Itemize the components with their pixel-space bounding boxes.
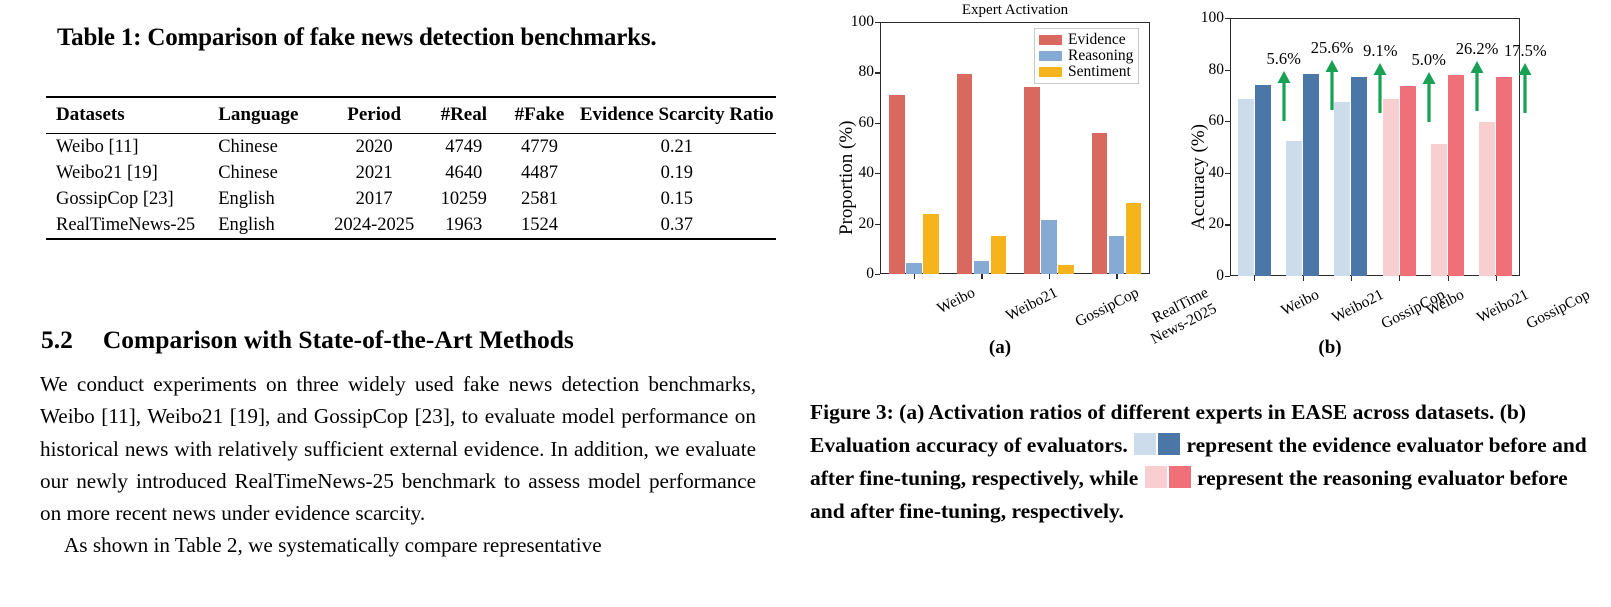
chart-b-y-tick-mark — [1225, 276, 1230, 277]
cell-real: 4749 — [426, 134, 501, 161]
table-row: RealTimeNews-25 English 2024-2025 1963 1… — [46, 212, 776, 239]
column-header-period: Period — [322, 97, 426, 134]
chart-a-x-tick-label: Weibo21 — [1003, 284, 1061, 325]
column-header-fake: #Fake — [501, 97, 577, 134]
up-arrow-icon — [1517, 63, 1533, 113]
chart-b-x-tick-mark — [1496, 276, 1497, 281]
chart-a-x-tick-label: GossipCop — [1072, 284, 1142, 331]
legend-swatch-sentiment — [1039, 67, 1062, 77]
column-header-language: Language — [218, 97, 322, 134]
table-row: GossipCop [23] English 2017 10259 2581 0… — [46, 186, 776, 212]
chart-a-x-tick-mark — [914, 274, 915, 279]
chart-a-y-tick-mark — [875, 224, 880, 225]
chart-b-x-tick-label: Weibo21 — [1474, 286, 1532, 327]
section-number: 5.2 — [41, 325, 73, 354]
chart-b-bar — [1255, 85, 1271, 276]
chart-a-y-tick-label: 100 — [842, 13, 874, 31]
chart-expert-activation: Expert Activation Proportion (%) 0204060… — [822, 0, 1182, 330]
chart-b-x-tick-label: GossipCop — [1523, 286, 1593, 333]
chart-a-title: Expert Activation — [880, 2, 1150, 19]
chart-b-bar — [1286, 141, 1302, 276]
chart-a-bar — [1126, 203, 1142, 274]
chart-b-bar — [1238, 99, 1254, 276]
chart-b-y-tick-mark — [1225, 121, 1230, 122]
chart-a-y-tick-mark — [875, 173, 880, 174]
legend-swatch-evidence — [1039, 35, 1062, 45]
legend-swatch-reasoning — [1039, 51, 1062, 61]
chart-b-bar — [1400, 86, 1416, 276]
chart-b-delta-label: 9.1% — [1363, 41, 1397, 61]
chart-b-bar — [1303, 74, 1319, 276]
table-row: Weibo21 [19] Chinese 2021 4640 4487 0.19 — [46, 160, 776, 186]
cell-fake: 4487 — [501, 160, 577, 186]
chart-a-bar — [923, 214, 939, 274]
cell-period: 2024-2025 — [322, 212, 426, 239]
column-header-datasets: Datasets — [46, 97, 218, 134]
caption-swatch-pink-after — [1169, 466, 1191, 488]
chart-a-x-tick-mark — [1116, 274, 1117, 279]
chart-a-bar — [906, 263, 922, 274]
chart-b-y-tick-label: 100 — [1192, 9, 1224, 27]
chart-b-delta-label: 25.6% — [1311, 38, 1354, 58]
right-figure-column: Expert Activation Proportion (%) 0204060… — [800, 0, 1611, 607]
chart-b-bar — [1448, 75, 1464, 276]
chart-a-bar — [1092, 133, 1108, 274]
caption-swatch-pink-before — [1145, 466, 1167, 488]
cell-language: English — [218, 212, 322, 239]
caption-swatch-blue-after — [1158, 433, 1180, 455]
chart-b-bar — [1496, 77, 1512, 276]
left-text-column: Table 1: Comparison of fake news detecti… — [0, 0, 800, 607]
cell-fake: 4779 — [501, 134, 577, 161]
chart-b-y-tick-mark — [1225, 173, 1230, 174]
chart-b-x-tick-mark — [1351, 276, 1352, 281]
figure-caption: Figure 3: (a) Activation ratios of diffe… — [810, 396, 1600, 528]
chart-b-y-tick-label: 0 — [1192, 267, 1224, 285]
benchmark-comparison-table: Datasets Language Period #Real #Fake Evi… — [46, 96, 776, 240]
cell-ratio: 0.37 — [578, 212, 776, 239]
chart-b-bar — [1334, 102, 1350, 276]
chart-a-y-tick-mark — [875, 22, 880, 23]
chart-b-x-tick-mark — [1448, 276, 1449, 281]
cell-dataset: GossipCop [23] — [46, 186, 218, 212]
chart-b-y-tick-mark — [1225, 70, 1230, 71]
chart-b-delta-label: 5.6% — [1266, 49, 1300, 69]
cell-dataset: Weibo21 [19] — [46, 160, 218, 186]
chart-b-y-tick-label: 20 — [1192, 215, 1224, 233]
cell-ratio: 0.21 — [578, 134, 776, 161]
cell-language: Chinese — [218, 160, 322, 186]
table-caption: Table 1: Comparison of fake news detecti… — [57, 24, 656, 52]
cell-real: 4640 — [426, 160, 501, 186]
chart-b-y-tick-label: 60 — [1192, 112, 1224, 130]
legend-label-evidence: Evidence — [1068, 32, 1126, 48]
chart-b-delta-label: 17.5% — [1504, 41, 1547, 61]
cell-language: Chinese — [218, 134, 322, 161]
chart-a-bar — [1024, 87, 1040, 274]
legend-item-evidence: Evidence — [1039, 32, 1133, 48]
chart-b-x-tick-mark — [1254, 276, 1255, 281]
column-header-evidence-scarcity-ratio: Evidence Scarcity Ratio — [578, 97, 776, 134]
chart-a-y-tick-mark — [875, 274, 880, 275]
section-title: Comparison with State-of-the-Art Methods — [103, 325, 574, 354]
chart-a-bar — [1058, 265, 1074, 274]
legend-label-reasoning: Reasoning — [1068, 48, 1133, 64]
cell-real: 1963 — [426, 212, 501, 239]
chart-b-delta-label: 26.2% — [1456, 39, 1499, 59]
chart-b-bar — [1479, 122, 1495, 276]
chart-a-y-tick-mark — [875, 72, 880, 73]
chart-a-y-tick-label: 60 — [842, 114, 874, 132]
chart-a-bar — [1041, 220, 1057, 274]
cell-language: English — [218, 186, 322, 212]
paragraph-2: As shown in Table 2, we systematically c… — [40, 529, 756, 561]
chart-a-y-tick-label: 0 — [842, 265, 874, 283]
up-arrow-icon — [1276, 71, 1292, 121]
chart-b-y-tick-mark — [1225, 224, 1230, 225]
chart-a-bar — [1109, 236, 1125, 274]
cell-period: 2020 — [322, 134, 426, 161]
chart-a-x-tick-mark — [1049, 274, 1050, 279]
cell-period: 2017 — [322, 186, 426, 212]
cell-ratio: 0.15 — [578, 186, 776, 212]
legend-item-sentiment: Sentiment — [1039, 64, 1133, 80]
chart-a-y-tick-label: 80 — [842, 63, 874, 81]
chart-a-bar — [991, 236, 1007, 274]
up-arrow-icon — [1372, 63, 1388, 113]
chart-b-bar — [1431, 144, 1447, 276]
legend-label-sentiment: Sentiment — [1068, 64, 1131, 80]
chart-a-y-tick-label: 20 — [842, 215, 874, 233]
table-header-row: Datasets Language Period #Real #Fake Evi… — [46, 97, 776, 134]
chart-b-bar — [1351, 77, 1367, 276]
table-row: Weibo [11] Chinese 2020 4749 4779 0.21 — [46, 134, 776, 161]
chart-b-x-tick-label: Weibo — [1279, 286, 1323, 320]
column-header-real: #Real — [426, 97, 501, 134]
cell-real: 10259 — [426, 186, 501, 212]
chart-a-y-tick-label: 40 — [842, 164, 874, 182]
cell-period: 2021 — [322, 160, 426, 186]
cell-dataset: RealTimeNews-25 — [46, 212, 218, 239]
chart-a-bar — [974, 261, 990, 274]
cell-ratio: 0.19 — [578, 160, 776, 186]
chart-b-x-tick-label: Weibo21 — [1329, 286, 1387, 327]
chart-b-y-tick-mark — [1225, 18, 1230, 19]
body-text: We conduct experiments on three widely u… — [40, 368, 756, 562]
up-arrow-icon — [1324, 60, 1340, 110]
chart-a-bar — [889, 95, 905, 274]
chart-b-y-tick-label: 80 — [1192, 61, 1224, 79]
chart-a-y-tick-mark — [875, 123, 880, 124]
subcaption-a: (a) — [970, 337, 1030, 359]
chart-b-y-tick-label: 40 — [1192, 164, 1224, 182]
cell-fake: 2581 — [501, 186, 577, 212]
up-arrow-icon — [1421, 72, 1437, 122]
chart-a-bar — [957, 74, 973, 274]
subcaption-b: (b) — [1300, 337, 1360, 359]
cell-dataset: Weibo [11] — [46, 134, 218, 161]
chart-a-x-tick-mark — [981, 274, 982, 279]
chart-a-x-tick-label: Weibo — [934, 284, 978, 318]
up-arrow-icon — [1469, 61, 1485, 111]
chart-b-x-tick-mark — [1303, 276, 1304, 281]
chart-b-x-tick-mark — [1399, 276, 1400, 281]
legend-item-reasoning: Reasoning — [1039, 48, 1133, 64]
chart-b-delta-label: 5.0% — [1411, 50, 1445, 70]
paragraph-1: We conduct experiments on three widely u… — [40, 368, 756, 529]
cell-fake: 1524 — [501, 212, 577, 239]
chart-b-bar — [1383, 99, 1399, 276]
caption-swatch-blue-before — [1134, 433, 1156, 455]
section-heading: 5.2Comparison with State-of-the-Art Meth… — [41, 325, 574, 355]
chart-a-legend: Evidence Reasoning Sentiment — [1034, 28, 1139, 84]
chart-evaluation-accuracy: Accuracy (%) 020406080100 WeiboWeibo21Go… — [1182, 0, 1542, 330]
